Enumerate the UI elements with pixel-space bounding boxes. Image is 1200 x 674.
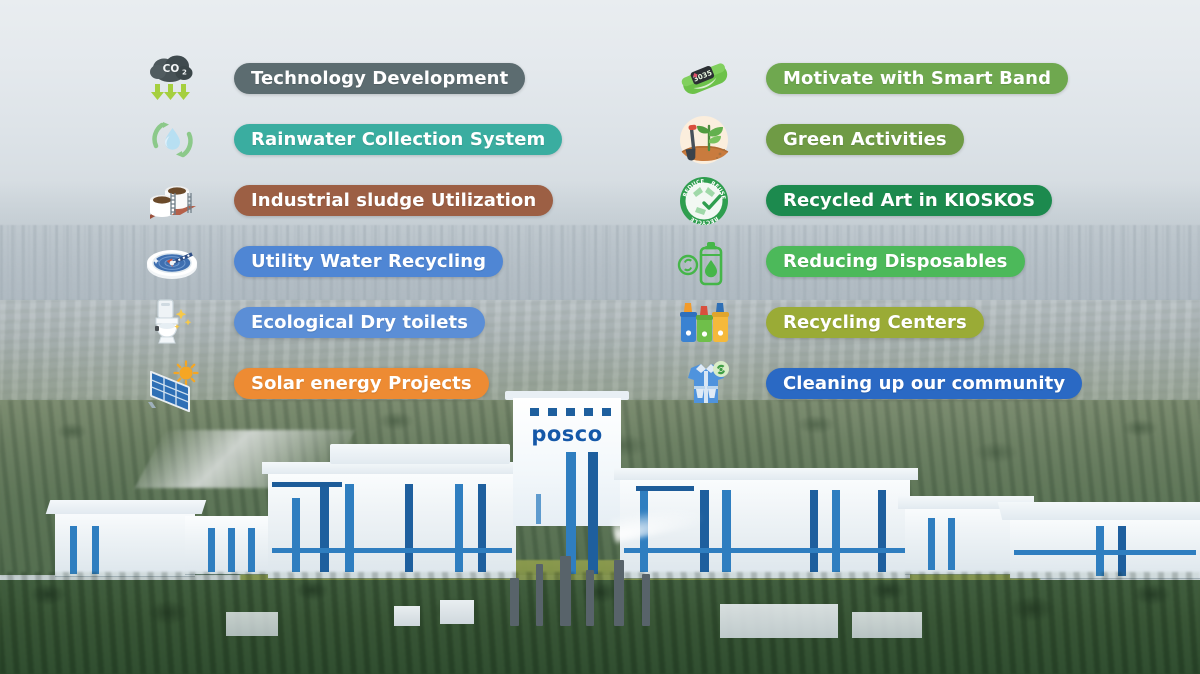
stripe <box>272 548 512 553</box>
initiative-pill-rainwater-collection-system[interactable]: Rainwater Collection System <box>234 124 562 155</box>
list-item[interactable]: Utility Water Recycling <box>140 231 562 292</box>
stripe <box>208 528 215 572</box>
stripe <box>478 484 486 572</box>
refinery-column <box>510 578 519 626</box>
smart-band-icon: 3035 <box>672 50 738 108</box>
initiative-pill-cleaning-up-our-community[interactable]: Cleaning up our community <box>766 368 1082 399</box>
list-item[interactable]: Reducing Disposables <box>672 231 1082 292</box>
list-item[interactable]: CO 2 Technology Development <box>140 48 562 109</box>
refinery-silo <box>440 600 474 624</box>
stripe <box>810 490 818 572</box>
stripe <box>832 490 840 572</box>
stripe <box>1014 550 1196 555</box>
recycling-bins-icon <box>672 294 738 352</box>
stripe <box>92 526 99 574</box>
stripe <box>636 486 694 491</box>
initiative-pill-recycled-art-in-kioskos[interactable]: Recycled Art in KIOSKOS <box>766 185 1052 216</box>
stripe <box>228 528 235 572</box>
plant-far-east-shed <box>1010 516 1200 578</box>
stripe <box>700 490 709 572</box>
initiative-pill-utility-water-recycling[interactable]: Utility Water Recycling <box>234 246 503 277</box>
initiative-pill-motivate-with-smart-band[interactable]: Motivate with Smart Band <box>766 63 1068 94</box>
list-item[interactable]: REDUCE REUSE RECYCLE Recycled Art in KIO… <box>672 170 1082 231</box>
stripe <box>624 548 906 553</box>
initiative-pill-solar-energy-projects[interactable]: Solar energy Projects <box>234 368 489 399</box>
co2-cloud-icon: CO 2 <box>140 50 206 108</box>
stripe <box>272 482 342 487</box>
right-initiative-column: 3035 Motivate with Smart Band <box>672 48 1082 414</box>
stripe <box>70 526 77 574</box>
infographic-canvas: posco <box>0 0 1200 674</box>
stripe <box>320 484 329 572</box>
list-item[interactable]: Ecological Dry toilets <box>140 292 562 353</box>
initiative-pill-recycling-centers[interactable]: Recycling Centers <box>766 307 984 338</box>
refinery-column <box>642 574 650 626</box>
svg-text:2: 2 <box>182 68 187 76</box>
initiative-pill-green-activities[interactable]: Green Activities <box>766 124 964 155</box>
initiative-pill-reducing-disposables[interactable]: Reducing Disposables <box>766 246 1025 277</box>
stripe <box>928 518 935 570</box>
stripe <box>292 498 300 572</box>
list-item[interactable]: Rainwater Collection System <box>140 109 562 170</box>
list-item[interactable]: Recycling Centers <box>672 292 1082 353</box>
list-item[interactable]: Cleaning up our community <box>672 353 1082 414</box>
posco-logo-text: posco <box>513 422 621 446</box>
refinery-column <box>586 570 594 626</box>
list-item[interactable]: 3035 Motivate with Smart Band <box>672 48 1082 109</box>
initiative-pill-industrial-sludge-utilization[interactable]: Industrial sludge Utilization <box>234 185 553 216</box>
plant-upper-roof <box>330 444 510 464</box>
list-item[interactable]: Industrial sludge Utilization <box>140 170 562 231</box>
reduce-reuse-recycle-icon: REDUCE REUSE RECYCLE <box>672 172 738 230</box>
left-initiative-column: CO 2 Technology Development <box>140 48 562 414</box>
reusable-bottle-icon <box>672 233 738 291</box>
svg-text:CO: CO <box>163 63 180 75</box>
stripe <box>602 408 611 416</box>
stripe <box>878 490 886 572</box>
water-recycle-icon <box>140 111 206 169</box>
plant-main-roof-right <box>614 468 918 480</box>
ground-building <box>226 612 278 636</box>
list-item[interactable]: Solar energy Projects <box>140 353 562 414</box>
stripe <box>248 528 255 572</box>
refinery-silo <box>394 606 420 626</box>
plant-west-roof <box>46 500 207 514</box>
clarifier-tank-icon <box>140 233 206 291</box>
refinery-column <box>536 564 543 626</box>
solar-panel-icon <box>140 355 206 413</box>
ground-building <box>852 612 922 638</box>
plant-far-east-roof <box>998 502 1200 520</box>
volunteer-vest-icon <box>672 355 738 413</box>
initiative-pill-ecological-dry-toilets[interactable]: Ecological Dry toilets <box>234 307 485 338</box>
refinery-column <box>614 560 624 626</box>
stripe <box>536 494 541 524</box>
shovel-plant-icon <box>672 111 738 169</box>
ground-building <box>720 604 838 638</box>
refinery-column <box>560 556 571 626</box>
stripe <box>948 518 955 570</box>
stripe <box>584 408 593 416</box>
list-item[interactable]: Green Activities <box>672 109 1082 170</box>
stripe <box>405 484 413 572</box>
stripe <box>455 484 463 572</box>
sludge-tanks-icon <box>140 172 206 230</box>
initiative-pill-technology-development[interactable]: Technology Development <box>234 63 525 94</box>
stripe <box>566 408 575 416</box>
toilet-icon <box>140 294 206 352</box>
refinery-structures <box>490 556 690 626</box>
stripe <box>345 484 354 572</box>
stripe <box>722 490 731 572</box>
